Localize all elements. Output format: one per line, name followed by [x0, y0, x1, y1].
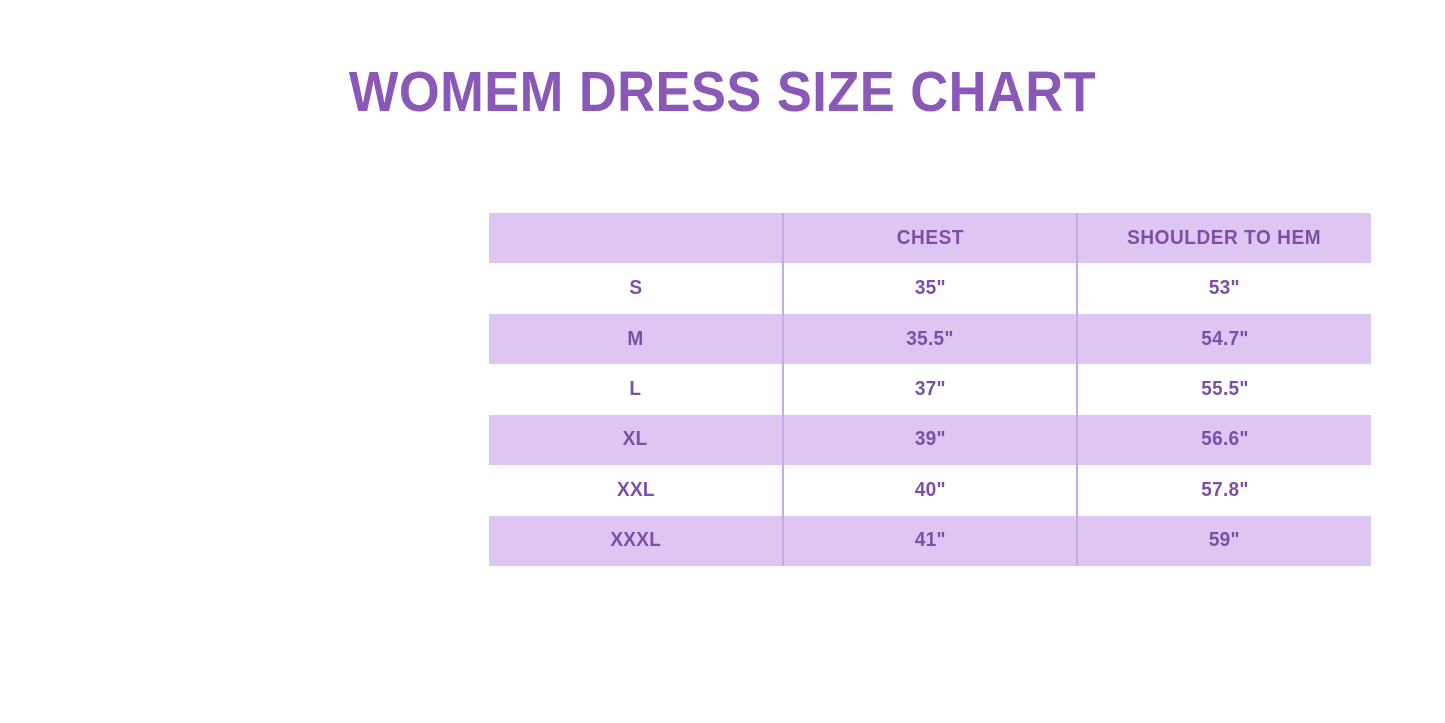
cell-chest: 35.5" — [783, 314, 1077, 364]
cell-size: XL — [489, 415, 783, 465]
table-row: XL 39" 56.6" — [489, 415, 1371, 465]
cell-shoulder-to-hem: 56.6" — [1077, 415, 1371, 465]
cell-size: XXL — [489, 465, 783, 515]
table-row: L 37" 55.5" — [489, 364, 1371, 414]
table-row: M 35.5" 54.7" — [489, 314, 1371, 364]
column-header-chest: CHEST — [783, 213, 1077, 263]
cell-shoulder-to-hem-value: 57.8" — [1201, 479, 1248, 502]
cell-size-value: XL — [623, 428, 648, 451]
column-header-chest-label: CHEST — [896, 227, 963, 250]
cell-size: XXXL — [489, 516, 783, 567]
cell-shoulder-to-hem-value: 53" — [1209, 277, 1240, 300]
cell-size: M — [489, 314, 783, 364]
cell-chest: 40" — [783, 465, 1077, 515]
cell-shoulder-to-hem-value: 54.7" — [1201, 328, 1248, 351]
cell-chest-value: 37" — [914, 378, 945, 401]
cell-size: L — [489, 364, 783, 414]
cell-shoulder-to-hem: 59" — [1077, 516, 1371, 567]
cell-size-value: S — [629, 277, 642, 300]
cell-shoulder-to-hem: 55.5" — [1077, 364, 1371, 414]
cell-chest: 37" — [783, 364, 1077, 414]
cell-chest-value: 39" — [914, 428, 945, 451]
cell-size-value: XXXL — [610, 529, 661, 552]
cell-shoulder-to-hem: 57.8" — [1077, 465, 1371, 515]
cell-chest: 39" — [783, 415, 1077, 465]
cell-size-value: XXL — [617, 479, 655, 502]
cell-chest-value: 40" — [914, 479, 945, 502]
size-chart-table: CHEST SHOULDER TO HEM S 35" 53" M 35.5" … — [489, 213, 1371, 566]
cell-chest-value: 35" — [914, 277, 945, 300]
table-row: XXXL 41" 59" — [489, 516, 1371, 567]
cell-chest: 35" — [783, 263, 1077, 313]
column-header-shoulder-to-hem-label: SHOULDER TO HEM — [1127, 227, 1321, 250]
cell-shoulder-to-hem-value: 59" — [1209, 529, 1240, 552]
table-body: S 35" 53" M 35.5" 54.7" L 37" 55.5" XL 3… — [489, 263, 1371, 566]
cell-size-value: M — [627, 328, 643, 351]
table-header-row: CHEST SHOULDER TO HEM — [489, 213, 1371, 263]
page-title: WOMEM DRESS SIZE CHART — [58, 56, 1387, 128]
table-row: XXL 40" 57.8" — [489, 465, 1371, 515]
cell-size: S — [489, 263, 783, 313]
cell-size-value: L — [630, 378, 642, 401]
cell-chest: 41" — [783, 516, 1077, 567]
size-chart-page: WOMEM DRESS SIZE CHART CHEST SHOULDER TO… — [0, 0, 1445, 723]
cell-shoulder-to-hem-value: 56.6" — [1201, 428, 1248, 451]
cell-chest-value: 41" — [914, 529, 945, 552]
column-header-size — [489, 213, 783, 263]
cell-shoulder-to-hem: 53" — [1077, 263, 1371, 313]
cell-shoulder-to-hem-value: 55.5" — [1201, 378, 1248, 401]
table-header: CHEST SHOULDER TO HEM — [489, 213, 1371, 263]
cell-chest-value: 35.5" — [906, 328, 953, 351]
table-row: S 35" 53" — [489, 263, 1371, 313]
cell-shoulder-to-hem: 54.7" — [1077, 314, 1371, 364]
column-header-shoulder-to-hem: SHOULDER TO HEM — [1077, 213, 1371, 263]
